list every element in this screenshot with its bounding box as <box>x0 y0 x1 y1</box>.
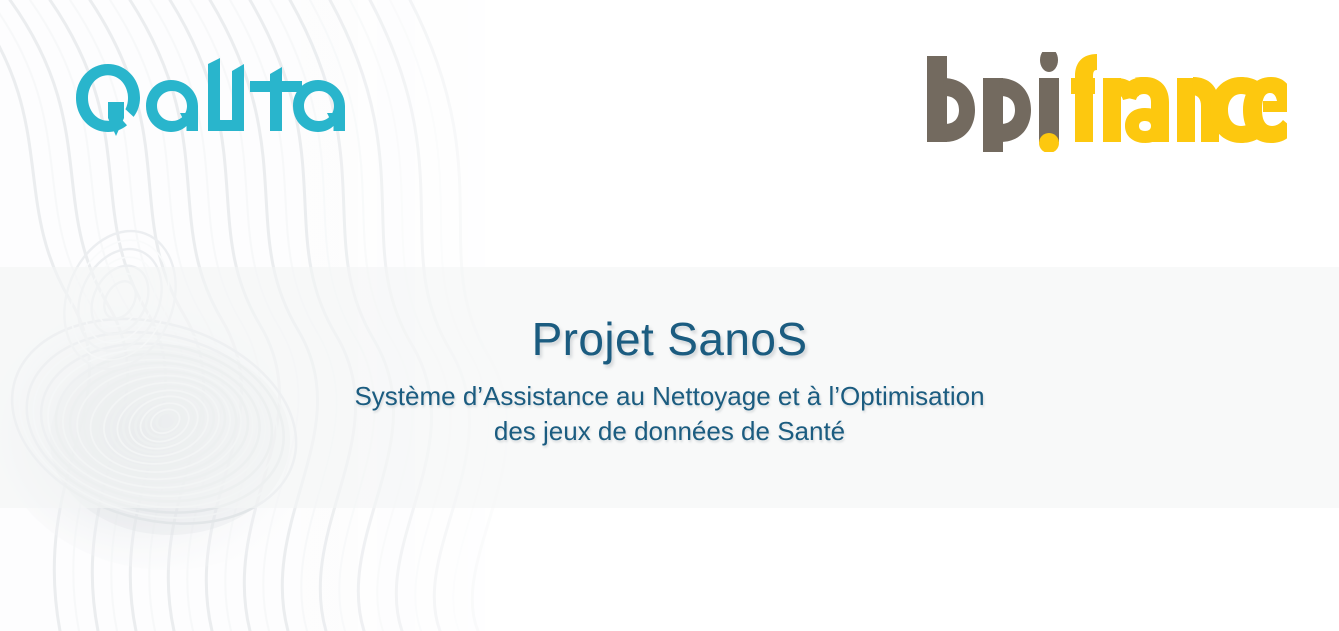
bpifrance-logo <box>923 52 1287 152</box>
presentation-slide: Projet SanoS Système d’Assistance au Net… <box>0 0 1339 631</box>
qalita-logo <box>72 58 346 138</box>
title-block: Projet SanoS Système d’Assistance au Net… <box>0 315 1339 449</box>
page-subtitle: Système d’Assistance au Nettoyage et à l… <box>0 379 1339 450</box>
page-title: Projet SanoS <box>0 315 1339 365</box>
subtitle-line-2: des jeux de données de Santé <box>0 414 1339 449</box>
subtitle-line-1: Système d’Assistance au Nettoyage et à l… <box>0 379 1339 414</box>
